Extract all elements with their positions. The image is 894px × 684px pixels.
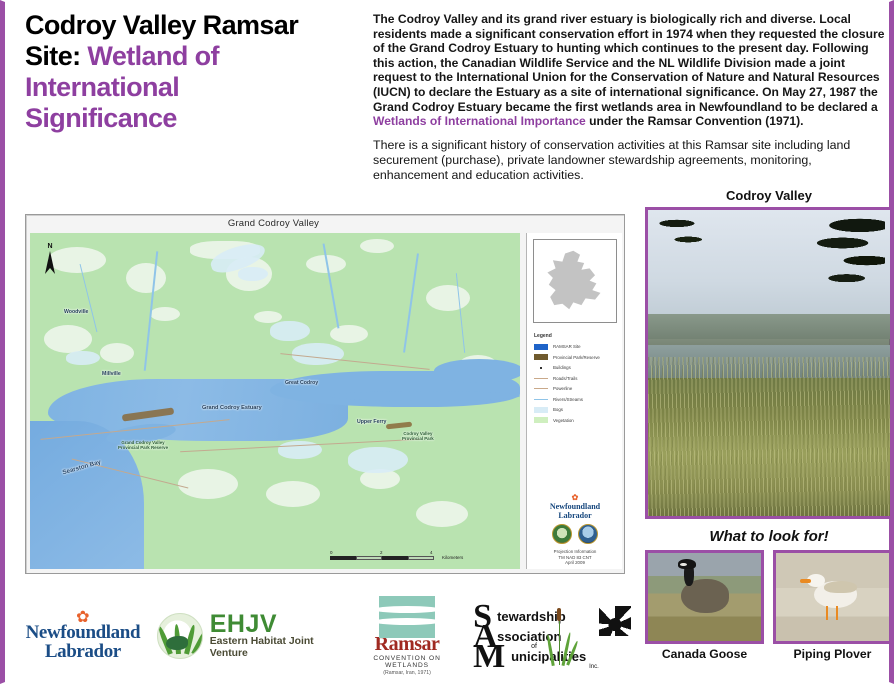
ramsar-subtitle-1: CONVENTION ON WETLANDS	[361, 655, 453, 669]
cattail-stem	[559, 621, 561, 665]
bird-card-canada-goose: Canada Goose	[645, 550, 764, 661]
photo-conifer-right	[784, 210, 886, 320]
map-park-label: Codroy Valley Provincial Park	[402, 431, 434, 442]
north-arrow-label: N	[42, 243, 58, 251]
photo-grass-texture	[648, 357, 890, 516]
right-column: Codroy Valley What to look for!	[645, 188, 893, 661]
canada-goose-photo-frame	[645, 550, 764, 644]
legend-title: Legend	[534, 333, 622, 339]
page-title: Codroy Valley Ramsar Site: Wetland of In…	[25, 10, 370, 134]
map-river	[456, 273, 466, 353]
photo-conifer-left	[658, 210, 721, 277]
map-veg-patch	[100, 343, 134, 363]
map-veg-patch	[178, 469, 238, 499]
map-veg-patch	[126, 263, 166, 293]
nl-logo-line1: Newfoundland	[23, 623, 143, 642]
intro-p1-part1: The Codroy Valley and its grand river es…	[373, 12, 884, 114]
map-legend: Legend RAMSAR Site Provincial Park/Reser…	[534, 333, 622, 427]
map-credit-block: ✿ Newfoundland Labrador Projection Infor…	[531, 493, 619, 566]
legend-item-label: Roads/Trails	[553, 376, 577, 381]
logo-bar: ✿ Newfoundland Labrador EHJV Eastern Hab…	[15, 594, 635, 678]
legend-swatch-icon	[534, 354, 548, 360]
piping-plover-photo	[776, 553, 892, 641]
north-arrow-icon: N	[42, 243, 58, 277]
map-bog	[292, 343, 344, 365]
pitcher-plant-icon: ✿	[23, 612, 143, 623]
legend-item-label: Provincial Park/Reserve	[553, 355, 600, 360]
map-park-label-line2: Provincial Park Reserve	[118, 445, 168, 450]
legend-item-ramsar-site: RAMSAR Site	[534, 343, 622, 350]
nl-logo-line1: Newfoundland	[531, 502, 619, 511]
crest-icon	[552, 524, 572, 544]
legend-item-vegetation: Vegetation	[534, 417, 622, 424]
title-wetland-of: Wetland of	[87, 41, 219, 71]
legend-swatch-icon	[534, 344, 548, 350]
newfoundland-shape-icon	[542, 248, 610, 316]
map-scalebar: 0 2 4 Kilometers	[330, 549, 460, 563]
logo-newfoundland-labrador: ✿ Newfoundland Labrador	[23, 612, 143, 661]
map-river-east	[330, 391, 520, 401]
map-place-label: Millville	[102, 371, 121, 377]
piping-plover-photo-frame	[773, 550, 892, 644]
ehjv-full-name: Eastern Habitat Joint Venture	[210, 636, 339, 660]
legend-line-icon	[534, 388, 548, 389]
map-canvas[interactable]: N Woodville Millville Great Codroy Grand…	[30, 233, 520, 569]
map-place-label: Upper Ferry	[357, 419, 386, 425]
bird-card-piping-plover: Piping Plover	[773, 550, 892, 661]
wave-line	[379, 606, 435, 613]
map-river	[80, 264, 98, 332]
inset-locator-map	[533, 239, 617, 323]
scalebar-tick: 0	[330, 550, 333, 555]
crest-icon	[578, 524, 598, 544]
map-veg-patch	[266, 481, 320, 507]
legend-item-label: Bogs	[553, 407, 563, 412]
nl-logo-line2: Labrador	[531, 511, 619, 520]
map-park-band	[386, 422, 412, 430]
legend-item-label: Powerline	[553, 386, 572, 391]
ramsar-subtitle-2: (Ramsar, Iran, 1971)	[361, 670, 453, 676]
map-bog	[66, 351, 100, 365]
legend-item-rivers-streams: Rivers/Streams	[534, 396, 622, 403]
scalebar-segment	[356, 556, 382, 560]
logo-sam: S tewardship A ssociation of M unicipali…	[471, 600, 635, 672]
ehjv-emblem-icon	[157, 613, 203, 659]
cattail-icon	[557, 608, 561, 621]
sam-word-association: ssociation	[497, 629, 561, 644]
legend-item-provincial-park: Provincial Park/Reserve	[534, 354, 622, 361]
legend-line-icon	[534, 378, 548, 379]
flower-icon: ✿	[531, 493, 619, 502]
canada-goose-caption: Canada Goose	[645, 647, 764, 661]
plover-back	[824, 581, 857, 593]
bird-photos-row: Canada Goose Piping Plover	[645, 550, 893, 661]
legend-item-label: RAMSAR Site	[553, 344, 581, 349]
map-bog	[270, 321, 310, 341]
intro-p1-part2: under the Ramsar Convention (1971).	[586, 114, 804, 128]
intro-text-block: The Codroy Valley and its grand river es…	[373, 12, 885, 183]
map-place-label: Great Codroy	[285, 380, 318, 386]
maple-leaf-icon	[599, 606, 631, 636]
title-line-3: International	[25, 72, 370, 103]
projection-info: Projection Information TM NAD 83 CNT Apr…	[531, 549, 619, 566]
nl-logo-line2: Labrador	[23, 642, 143, 661]
title-line-4: Significance	[25, 103, 370, 134]
crest-row	[531, 524, 619, 544]
map-title: Grand Codroy Valley	[26, 218, 521, 229]
legend-swatch-icon	[534, 417, 548, 423]
map-sidebar: Legend RAMSAR Site Provincial Park/Reser…	[526, 233, 622, 569]
wetlands-importance-link[interactable]: Wetlands of International Importance	[373, 114, 586, 128]
map-place-label: Woodville	[64, 309, 88, 315]
legend-swatch-icon	[534, 407, 548, 413]
header-section: Codroy Valley Ramsar Site: Wetland of In…	[5, 2, 889, 202]
scalebar-tick: 4	[430, 550, 433, 555]
projection-line-3: April 2009	[531, 560, 619, 566]
nl-government-logo: ✿ Newfoundland Labrador	[531, 493, 619, 520]
sam-word-stewardship: tewardship	[497, 609, 566, 624]
poster-root: Codroy Valley Ramsar Site: Wetland of In…	[0, 0, 894, 684]
scalebar-segment	[330, 556, 356, 560]
ehjv-acronym: EHJV	[210, 612, 339, 636]
title-line-2: Site: Wetland of	[25, 41, 370, 72]
legend-item-buildings: Buildings	[534, 364, 622, 371]
plover-leg	[836, 606, 838, 620]
map-place-label: Grand Codroy Estuary	[202, 405, 262, 411]
ehjv-text: EHJV Eastern Habitat Joint Venture	[210, 612, 339, 660]
legend-line-icon	[534, 399, 548, 400]
sam-inc-label: Inc.	[589, 664, 599, 670]
map-veg-patch	[426, 285, 470, 311]
duck-icon	[166, 636, 188, 650]
legend-item-powerline: Powerline	[534, 385, 622, 392]
legend-item-roads-trails: Roads/Trails	[534, 375, 622, 382]
piping-plover-caption: Piping Plover	[773, 647, 892, 661]
map-park-label-line2: Provincial Park	[402, 436, 434, 441]
scalebar-tick: 2	[380, 550, 383, 555]
map-veg-patch	[254, 311, 282, 323]
map-veg-patch	[44, 325, 92, 353]
map-veg-patch	[360, 239, 394, 253]
ramsar-emblem-icon	[379, 596, 435, 638]
scalebar-segment	[382, 556, 408, 560]
map-river	[403, 253, 418, 352]
logo-ramsar: Ramsar CONVENTION ON WETLANDS (Ramsar, I…	[361, 596, 453, 676]
map-panel[interactable]: Grand Codroy Valley	[25, 214, 625, 574]
wave-line	[379, 618, 435, 625]
map-veg-patch	[330, 325, 368, 343]
map-estuary-water	[434, 359, 520, 383]
legend-item-label: Vegetation	[553, 418, 574, 423]
codroy-valley-photo-frame	[645, 207, 893, 519]
canada-goose-photo	[648, 553, 764, 641]
map-park-label: Grand Codroy Valley Provincial Park Rese…	[118, 440, 168, 451]
intro-paragraph-1: The Codroy Valley and its grand river es…	[373, 12, 885, 129]
logo-ehjv: EHJV Eastern Habitat Joint Venture	[157, 612, 339, 660]
title-site-label: Site:	[25, 41, 81, 71]
plover-beak	[800, 579, 811, 583]
map-veg-patch	[416, 501, 468, 527]
legend-dot-icon	[534, 365, 548, 371]
scalebar-unit-label: Kilometers	[442, 555, 463, 560]
legend-item-bogs: Bogs	[534, 406, 622, 413]
map-bog	[348, 447, 408, 473]
legend-item-label: Rivers/Streams	[553, 397, 583, 402]
map-veg-patch	[150, 307, 180, 321]
sam-letter-m: M	[473, 642, 505, 672]
codroy-valley-photo	[648, 210, 893, 516]
title-line-1: Codroy Valley Ramsar	[25, 10, 370, 41]
plover-leg	[826, 606, 828, 620]
what-to-look-for-title: What to look for!	[645, 528, 893, 545]
scalebar-segment	[408, 556, 434, 560]
codroy-valley-caption: Codroy Valley	[645, 188, 893, 203]
legend-item-label: Buildings	[553, 365, 571, 370]
intro-paragraph-2: There is a significant history of conser…	[373, 138, 885, 183]
